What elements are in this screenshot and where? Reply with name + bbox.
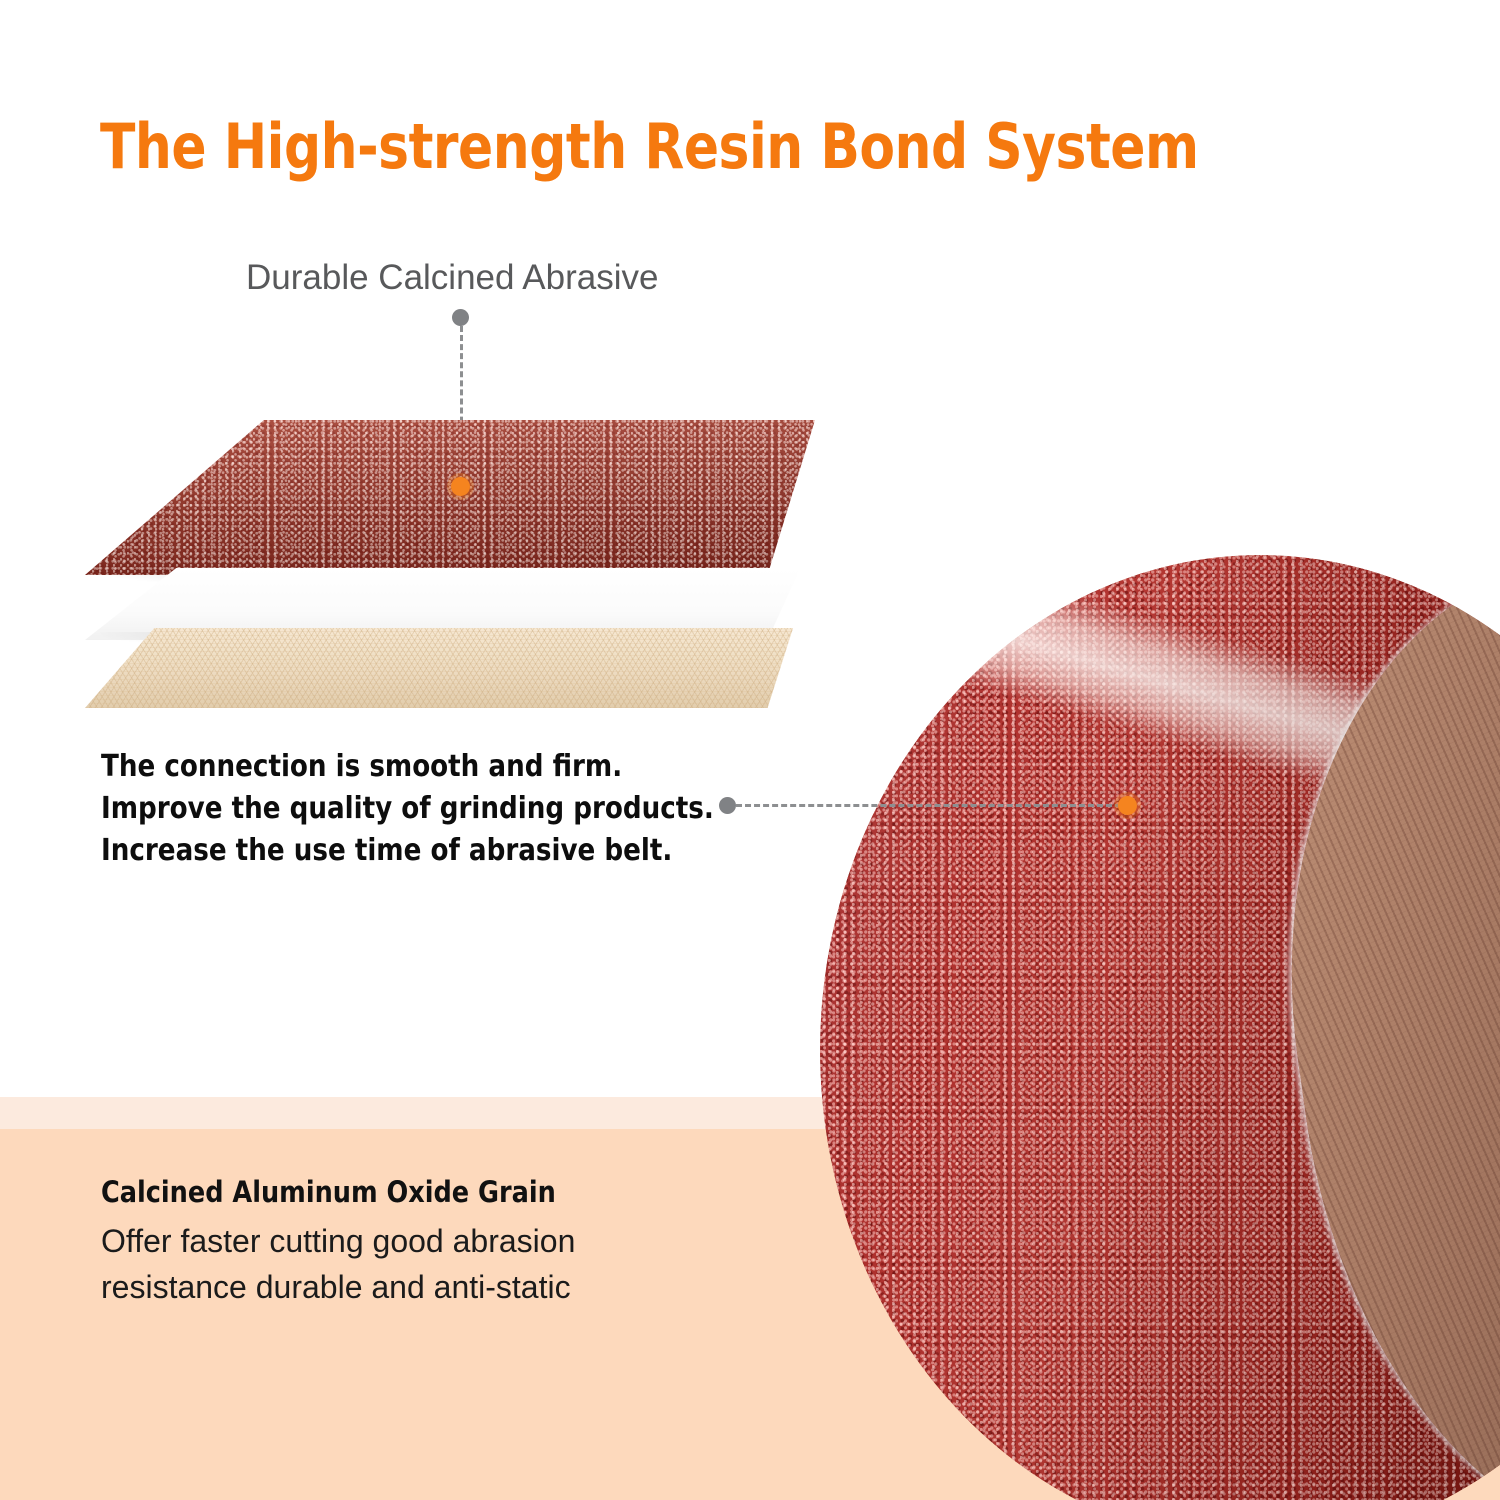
callout-top-target-dot xyxy=(451,477,470,496)
bottom-section-body-line-2: resistance durable and anti-static xyxy=(101,1264,575,1310)
callout-top-anchor-dot xyxy=(452,309,469,326)
callout-middle-leader-line xyxy=(736,804,1121,807)
callout-middle-line-1: The connection is smooth and firm. xyxy=(101,746,714,788)
belt-body xyxy=(700,490,1500,1500)
bottom-section-body-line-1: Offer faster cutting good abrasion xyxy=(101,1218,575,1264)
bottom-section-heading: Calcined Aluminum Oxide Grain xyxy=(101,1175,556,1209)
abrasive-belt-image xyxy=(700,490,1500,1500)
callout-middle-line-3: Increase the use time of abrasive belt. xyxy=(101,830,714,872)
infographic-page: The High-strength Resin Bond System Dura… xyxy=(0,0,1500,1500)
callout-top-label: Durable Calcined Abrasive xyxy=(246,258,658,298)
bottom-section-body: Offer faster cutting good abrasion resis… xyxy=(101,1218,575,1310)
callout-middle-line-2: Improve the quality of grinding products… xyxy=(101,788,714,830)
belt-edge-highlight xyxy=(700,490,1500,1500)
callout-middle-anchor-dot xyxy=(719,797,736,814)
page-title: The High-strength Resin Bond System xyxy=(100,110,1199,183)
callout-middle-text: The connection is smooth and firm. Impro… xyxy=(101,746,714,872)
callout-middle-target-dot xyxy=(1118,796,1137,815)
